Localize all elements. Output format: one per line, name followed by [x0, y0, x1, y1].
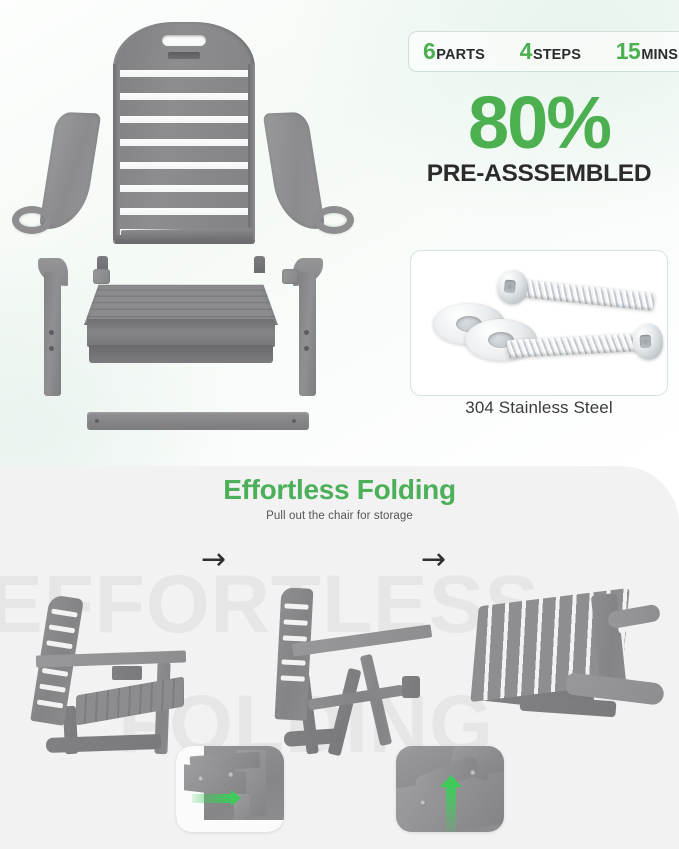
bolt-icon-2: [506, 323, 664, 367]
bolt-2-thread: [507, 333, 640, 358]
backrest-rail-left: [113, 64, 120, 240]
chair-upright: [18, 596, 193, 754]
chair1-cup-holder: [112, 666, 142, 680]
armrest-right: [258, 112, 354, 236]
detail-right-screw-1: [420, 800, 426, 806]
folding-title: Effortless Folding: [0, 474, 679, 506]
leg-right-bolt-hole-2: [304, 346, 309, 351]
badge-mins-value: 15: [616, 38, 641, 65]
badge-parts-value: 6: [423, 38, 435, 65]
spec-badge-bar: 6 PARTS 4 STEPS 15 MINS: [408, 31, 679, 72]
armrest-left: [12, 112, 108, 236]
chair1-runner: [46, 734, 161, 753]
bolt-2-hex-socket: [639, 334, 651, 348]
brace-hole-right: [292, 419, 296, 423]
step-arrow-1: →: [201, 545, 226, 575]
leg-right-bolt-hole-1: [304, 330, 309, 335]
badge-parts: 6 PARTS: [423, 38, 485, 65]
bolt-1-thread: [520, 279, 655, 311]
leg-left-bolt-hole-1: [49, 330, 54, 335]
leg-lift-detail: [396, 746, 504, 832]
seat-skirt: [89, 345, 273, 363]
brace-hole-left: [95, 419, 99, 423]
pre-assembled-percent: 80%: [408, 88, 670, 158]
cup-holder-ring-left: [12, 206, 52, 234]
badge-mins-unit: MINS: [641, 47, 678, 63]
hardware-card: [410, 250, 668, 396]
folding-demo-section: EFFORTLESS FOLDING Effortless Folding Pu…: [0, 466, 679, 849]
chair-mid-fold: [252, 588, 432, 754]
detail-left-screw-1: [198, 776, 204, 782]
seat-front-edge: [87, 319, 275, 347]
pre-assembled-caption: PRE-ASSSEMBLED: [408, 160, 670, 188]
exploded-parts-diagram: [0, 0, 400, 455]
badge-steps-unit: STEPS: [533, 47, 581, 63]
brand-plate: [168, 52, 200, 59]
chair2-armrest: [292, 624, 432, 656]
bolt-1-hex-socket: [503, 280, 516, 294]
detail-left-screw-2: [228, 772, 234, 778]
backrest-rail-right: [248, 64, 255, 240]
release-direction-arrow-icon: [192, 794, 232, 803]
seat-post-right: [254, 256, 265, 273]
hardware-caption: 304 Stainless Steel: [410, 398, 668, 418]
product-parts-section: 6 PARTS 4 STEPS 15 MINS 80% PRE-ASSSEMBL…: [0, 0, 679, 466]
badge-steps: 4 STEPS: [520, 38, 581, 65]
detail-right-screw-2: [470, 770, 476, 776]
spacer-block-left: [93, 269, 110, 284]
badge-steps-value: 4: [520, 38, 532, 65]
badge-mins: 15 MINS: [616, 38, 678, 65]
lift-direction-arrow-icon: [446, 786, 456, 832]
latch-release-detail: [176, 746, 284, 832]
spacer-block-right: [282, 269, 299, 284]
cross-brace: [87, 412, 309, 430]
leg-support-left: [38, 258, 68, 396]
backrest-panel: [113, 22, 255, 244]
cup-holder-ring-right: [314, 206, 354, 234]
detail-left-base-backdrop: [176, 820, 284, 832]
badge-parts-unit: PARTS: [436, 47, 485, 63]
leg-left-bolt-hole-2: [49, 346, 54, 351]
chair-folded-flat: [468, 594, 664, 734]
step-arrow-2: →: [421, 545, 446, 575]
folding-sequence: [0, 528, 679, 688]
bolt-icon-1: [496, 269, 659, 320]
pre-assembled-callout: 80% PRE-ASSSEMBLED: [408, 88, 670, 188]
seat-assembly: [84, 265, 278, 366]
folding-subtitle: Pull out the chair for storage: [0, 510, 679, 522]
bolt-2-head: [632, 323, 664, 361]
chair2-hinge-tab: [402, 676, 420, 698]
bolt-1-head: [496, 269, 529, 306]
carry-handle-cutout: [162, 35, 206, 46]
